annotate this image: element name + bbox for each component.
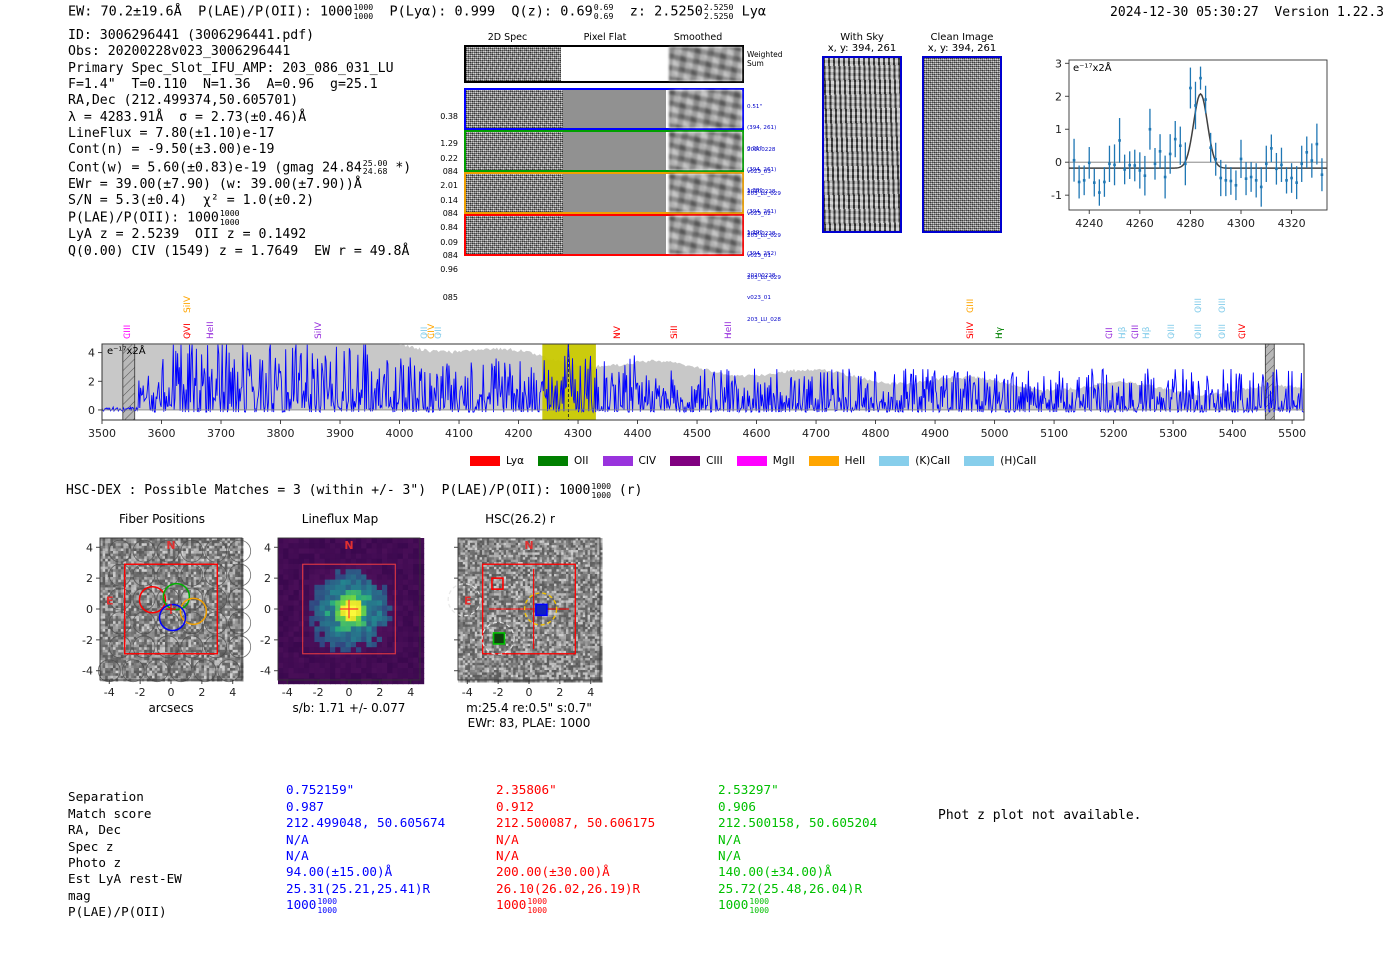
lineflux-map-svg: N-4-4-2-2002244s/b: 1.71 +/- 0.077 xyxy=(248,530,443,715)
svg-text:-2: -2 xyxy=(313,686,324,699)
m3-specz: N/A xyxy=(718,832,741,847)
with-sky-subtitle: x, y: 394, 261 xyxy=(822,43,902,54)
match-label-score: Match score xyxy=(68,806,151,821)
detail-line-7: Cont(n) = -9.50(±3.00)e-19 xyxy=(68,142,274,157)
detail-line-2: Primary Spec_Slot_IFU_AMP: 203_086_031_L… xyxy=(68,61,394,76)
detail-redshifts: LyA z = 2.5239 OII z = 0.1492 xyxy=(68,227,306,242)
line-label-civ-23: CIV xyxy=(1238,324,1248,339)
svg-text:4600: 4600 xyxy=(743,427,771,440)
detail-ewr: EWr = 39.00(±7.90) (w: 39.00(±7.90))Å xyxy=(68,177,362,192)
summary-z-fraction: 2.52502.5250 xyxy=(704,3,734,20)
svg-text:0: 0 xyxy=(88,404,95,417)
svg-text:4200: 4200 xyxy=(505,427,533,440)
svg-text:5000: 5000 xyxy=(981,427,1009,440)
line-fit-plot: -1012342404260428043004320e⁻¹⁷x2Å xyxy=(1035,50,1335,250)
emission-line-label-layer: ⌣CIII⌣OVI⌣SiIV⌣HeII⌣SiIV⌣OII⌣CIV⌣OII⌣NV⌣… xyxy=(60,272,1310,352)
legend-swatch-6 xyxy=(879,456,909,466)
line-label-oiii-18: OIII xyxy=(1167,324,1177,339)
svg-text:-2: -2 xyxy=(135,686,146,699)
m2-specz: N/A xyxy=(496,832,519,847)
lineflux-map-title: Lineflux Map xyxy=(240,512,440,526)
match-column-1: 0.752159" 0.987 212.499048, 50.605674 N/… xyxy=(286,766,445,914)
spec2d-row-fiber-2 xyxy=(464,130,744,172)
m1-radec: 212.499048, 50.605674 xyxy=(286,815,445,830)
line-label-ciii-16: CIII xyxy=(1131,325,1141,339)
detection-detail-block: ID: 3006296441 (3006296441.pdf) Obs: 202… xyxy=(68,28,411,260)
detail-line-0: ID: 3006296441 (3006296441.pdf) xyxy=(68,28,314,43)
line-label-siii-9: SiII xyxy=(670,325,680,339)
svg-text:-4: -4 xyxy=(260,665,271,678)
line-label-ovi-1: OVI xyxy=(183,323,193,339)
line-label-heii-10: HeII xyxy=(724,321,734,339)
m1-mag: 25.31(25.21,25.41)R xyxy=(286,881,430,896)
spec2d-col-title-smoothed: Smoothed xyxy=(653,32,743,43)
legend-label-2: CIV xyxy=(639,455,657,467)
line-label-hβ-15: Hβ xyxy=(1118,326,1128,339)
line-label-siiv-2: SiIV xyxy=(183,296,193,313)
line-label-ciii-0: CIII xyxy=(123,325,133,339)
legend-swatch-0 xyxy=(470,456,500,466)
detail-line-6: LineFlux = 7.80(±1.10)e-17 xyxy=(68,126,274,141)
svg-text:4: 4 xyxy=(229,686,236,699)
gmag-fraction: 25.0024.68 xyxy=(363,159,388,176)
legend-label-5: HeII xyxy=(845,455,866,467)
hsc-r-title: HSC(26.2) r xyxy=(420,512,620,526)
summary-header: EW: 70.2±19.6Å P(LAE)/P(OII): 1000100010… xyxy=(68,3,766,20)
svg-text:0: 0 xyxy=(86,603,93,616)
svg-text:4400: 4400 xyxy=(624,427,652,440)
summary-ew: EW: 70.2±19.6Å xyxy=(68,4,182,20)
spec2d-row-weighted-sum xyxy=(464,45,744,83)
hscdex-plae-fraction: 10001000 xyxy=(591,482,611,499)
svg-text:e⁻¹⁷x2Å: e⁻¹⁷x2Å xyxy=(1073,61,1112,74)
svg-text:0: 0 xyxy=(1055,156,1062,169)
m2-est-ew: 200.00(±30.00)Å xyxy=(496,864,610,879)
m3-plae-fraction: 10001000 xyxy=(749,897,769,914)
svg-text:3800: 3800 xyxy=(267,427,295,440)
match-label-est-lya-ew: Est LyA rest-EW xyxy=(68,871,182,886)
line-label-heii-3: HeII xyxy=(206,321,216,339)
svg-text:4700: 4700 xyxy=(802,427,830,440)
svg-text:4100: 4100 xyxy=(445,427,473,440)
svg-text:4300: 4300 xyxy=(1227,217,1255,230)
svg-text:4300: 4300 xyxy=(564,427,592,440)
full-spectrum-plot: 0243500360037003800390040004100420043004… xyxy=(60,272,1310,452)
svg-text:4000: 4000 xyxy=(386,427,414,440)
match-column-2: 2.35806" 0.912 212.500087, 50.606175 N/A… xyxy=(496,766,655,914)
with-sky-image xyxy=(822,56,902,233)
m2-radec: 212.500087, 50.606175 xyxy=(496,815,655,830)
legend-label-3: CIII xyxy=(706,455,723,467)
spec2d-panel-group: 2D Spec Pixel Flat Smoothed Weighted Sum… xyxy=(455,32,755,257)
timestamp: 2024-12-30 05:30:27 xyxy=(1110,5,1259,20)
detail-cont-w-tail: *) xyxy=(387,160,411,175)
svg-text:arcsecs: arcsecs xyxy=(148,701,193,715)
match-label-specz: Spec z xyxy=(68,839,114,854)
detail-snr: S/N = 5.3(±0.4) χ² = 1.0(±0.2) xyxy=(68,193,314,208)
legend-item-lyα: Lyα xyxy=(470,455,524,467)
line-label-nv-8: NV xyxy=(613,326,623,339)
svg-text:4280: 4280 xyxy=(1176,217,1204,230)
legend-label-0: Lyα xyxy=(506,455,524,467)
legend-swatch-7 xyxy=(964,456,994,466)
line-label-oiii-21: OIII xyxy=(1218,324,1228,339)
fiber-positions-svg: NE-4-4-2-2002244arcsecs xyxy=(70,530,265,715)
svg-text:4900: 4900 xyxy=(921,427,949,440)
svg-text:5400: 5400 xyxy=(1219,427,1247,440)
svg-text:3: 3 xyxy=(1055,57,1062,70)
spec2d-col-title-2dspec: 2D Spec xyxy=(455,32,560,43)
legend-swatch-2 xyxy=(603,456,633,466)
match-table-labels: Separation Match score RA, Dec Spec z Ph… xyxy=(68,773,182,921)
line-label-oiii-22: OIII xyxy=(1218,298,1228,313)
svg-text:2: 2 xyxy=(1055,90,1062,103)
summary-plae-label: P(LAE)/P(OII): 1000 xyxy=(198,4,352,20)
svg-text:-2: -2 xyxy=(260,634,271,647)
m3-score: 0.906 xyxy=(718,799,756,814)
summary-plya: P(Lyα): 0.999 xyxy=(389,4,495,20)
line-label-oiii-19: OIII xyxy=(1194,324,1204,339)
m3-radec: 212.500158, 50.605204 xyxy=(718,815,877,830)
m1-plae-fraction: 10001000 xyxy=(317,897,337,914)
weighted-sum-label: Weighted Sum xyxy=(747,50,783,68)
hscdex-header-tail: (r) xyxy=(611,483,642,498)
svg-text:4800: 4800 xyxy=(862,427,890,440)
detail-qciv: Q(0.00) CIV (1549) z = 1.7649 EW r = 49.… xyxy=(68,244,409,259)
hscdex-header: HSC-DEX : Possible Matches = 3 (within +… xyxy=(66,482,642,499)
lineflux-map-panel: N-4-4-2-2002244s/b: 1.71 +/- 0.077 xyxy=(248,530,443,715)
svg-text:s/b: 1.71 +/- 0.077: s/b: 1.71 +/- 0.077 xyxy=(293,701,406,715)
svg-text:3700: 3700 xyxy=(207,427,235,440)
spec2d-row-fiber-3 xyxy=(464,172,744,214)
m1-plae: 1000 xyxy=(286,897,316,912)
svg-text:2: 2 xyxy=(198,686,205,699)
legend-item-ciii: CIII xyxy=(670,455,723,467)
m2-mag: 26.10(26.02,26.19)R xyxy=(496,881,640,896)
m1-score: 0.987 xyxy=(286,799,324,814)
clean-image-cutout-panel: Clean Image x, y: 394, 261 xyxy=(922,32,1002,247)
svg-text:5500: 5500 xyxy=(1278,427,1306,440)
hsc-r-panel: NE-4-2024m:25.4 re:0.5" s:0.7"EWr: 83, P… xyxy=(428,530,623,730)
match-column-3: 2.53297" 0.906 212.500158, 50.605204 N/A… xyxy=(718,766,877,914)
svg-text:-4: -4 xyxy=(82,665,93,678)
line-label-hγ-13: Hγ xyxy=(995,327,1005,339)
detail-line-5: λ = 4283.91Å σ = 2.73(±0.46)Å xyxy=(68,110,306,125)
fiber-positions-panel: NE-4-4-2-2002244arcsecs xyxy=(70,530,265,715)
summary-qz-fraction: 0.690.69 xyxy=(594,3,614,20)
legend-swatch-3 xyxy=(670,456,700,466)
svg-text:3600: 3600 xyxy=(148,427,176,440)
line-label-cii-14: CII xyxy=(1105,327,1115,339)
spec2d-row-fiber-4 xyxy=(464,214,744,256)
match-label-separation: Separation xyxy=(68,789,144,804)
svg-text:0: 0 xyxy=(346,686,353,699)
detail-cont-w: Cont(w) = 5.60(±0.83)e-19 (gmag 24.84 xyxy=(68,160,362,175)
detail-line-3: F=1.4" T=0.110 N=1.36 A=0.96 g=25.1 xyxy=(68,77,378,92)
svg-text:4320: 4320 xyxy=(1278,217,1306,230)
svg-text:4260: 4260 xyxy=(1126,217,1154,230)
hscdex-header-text: HSC-DEX : Possible Matches = 3 (within +… xyxy=(66,483,590,498)
legend-label-4: MgII xyxy=(773,455,795,467)
svg-text:5200: 5200 xyxy=(1100,427,1128,440)
svg-text:2: 2 xyxy=(86,572,93,585)
legend-label-1: OII xyxy=(574,455,588,467)
legend-swatch-1 xyxy=(538,456,568,466)
m2-photoz: N/A xyxy=(496,848,519,863)
svg-text:4: 4 xyxy=(86,541,93,554)
clean-image-image xyxy=(922,56,1002,233)
legend-item-oii: OII xyxy=(538,455,588,467)
m2-plae-fraction: 10001000 xyxy=(527,897,547,914)
m1-separation: 0.752159" xyxy=(286,782,354,797)
m3-mag: 25.72(25.48,26.04)R xyxy=(718,881,862,896)
svg-text:0: 0 xyxy=(168,686,175,699)
fiber-positions-title: Fiber Positions xyxy=(62,512,262,526)
summary-plae-fraction: 10001000 xyxy=(354,3,374,20)
svg-text:5100: 5100 xyxy=(1040,427,1068,440)
svg-text:3900: 3900 xyxy=(326,427,354,440)
svg-text:4240: 4240 xyxy=(1075,217,1103,230)
svg-text:1: 1 xyxy=(1055,123,1062,136)
photz-note: Phot z plot not available. xyxy=(938,808,1142,823)
line-label-siiv-4: SiIV xyxy=(314,322,324,339)
with-sky-title: With Sky xyxy=(822,32,902,43)
summary-qz: Q(z): 0.69 xyxy=(511,4,592,20)
match-label-radec: RA, Dec xyxy=(68,822,121,837)
svg-text:2: 2 xyxy=(88,375,95,388)
legend-item-kcaii: (K)CaII xyxy=(879,455,950,467)
clean-image-subtitle: x, y: 394, 261 xyxy=(922,43,1002,54)
detail-plae-fraction: 10001000 xyxy=(220,209,240,226)
clean-image-title: Clean Image xyxy=(922,32,1002,43)
with-sky-cutout-panel: With Sky x, y: 394, 261 xyxy=(822,32,902,247)
legend-item-heii: HeII xyxy=(809,455,866,467)
hsc-r-svg: NE-4-2024m:25.4 re:0.5" s:0.7"EWr: 83, P… xyxy=(428,530,623,730)
legend-item-mgii: MgII xyxy=(737,455,795,467)
legend-item-hcaii: (H)CaII xyxy=(964,455,1036,467)
summary-z: z: 2.5250 xyxy=(630,4,703,20)
svg-text:N: N xyxy=(344,539,353,552)
line-label-ciii-11: CIII xyxy=(966,299,976,313)
match-label-plae: P(LAE)/P(OII) xyxy=(68,904,167,919)
m2-score: 0.912 xyxy=(496,799,534,814)
svg-text:5300: 5300 xyxy=(1159,427,1187,440)
legend-swatch-5 xyxy=(809,456,839,466)
svg-text:0: 0 xyxy=(264,603,271,616)
timestamp-version: 2024-12-30 05:30:27 Version 1.22.3 xyxy=(1110,5,1384,20)
m1-specz: N/A xyxy=(286,832,309,847)
legend-swatch-4 xyxy=(737,456,767,466)
svg-text:-4: -4 xyxy=(282,686,293,699)
legend-label-7: (H)CaII xyxy=(1000,455,1036,467)
spec2d-col-title-pixelflat: Pixel Flat xyxy=(560,32,650,43)
detail-plae-label: P(LAE)/P(OII): 1000 xyxy=(68,211,219,226)
m2-plae: 1000 xyxy=(496,897,526,912)
svg-text:N: N xyxy=(166,539,175,552)
summary-line-id: Lyα xyxy=(742,4,766,20)
line-label-siiv-12: SiIV xyxy=(966,322,976,339)
spec2d-row-fiber-1 xyxy=(464,88,744,130)
legend-item-civ: CIV xyxy=(603,455,657,467)
m3-separation: 2.53297" xyxy=(718,782,779,797)
m2-separation: 2.35806" xyxy=(496,782,557,797)
svg-text:3500: 3500 xyxy=(88,427,116,440)
svg-text:4: 4 xyxy=(407,686,414,699)
version: Version 1.22.3 xyxy=(1274,5,1384,20)
m3-est-ew: 140.00(±34.00)Å xyxy=(718,864,832,879)
m1-photoz: N/A xyxy=(286,848,309,863)
svg-text:4: 4 xyxy=(264,541,271,554)
svg-text:4500: 4500 xyxy=(683,427,711,440)
svg-text:-1: -1 xyxy=(1051,189,1062,202)
svg-text:2: 2 xyxy=(264,572,271,585)
legend-label-6: (K)CaII xyxy=(915,455,950,467)
line-label-hβ-17: Hβ xyxy=(1142,326,1152,339)
svg-text:2: 2 xyxy=(376,686,383,699)
match-label-photoz: Photo z xyxy=(68,855,121,870)
svg-text:-2: -2 xyxy=(82,634,93,647)
svg-text:E: E xyxy=(106,594,114,607)
m1-est-ew: 94.00(±15.00)Å xyxy=(286,864,392,879)
line-label-oii-7: OII xyxy=(434,327,444,339)
detail-line-4: RA,Dec (212.499374,50.605701) xyxy=(68,93,298,108)
match-label-mag: mag xyxy=(68,888,91,903)
line-fit-svg: -1012342404260428043004320e⁻¹⁷x2Å xyxy=(1035,50,1335,250)
line-label-oiii-20: OIII xyxy=(1194,298,1204,313)
m3-plae: 1000 xyxy=(718,897,748,912)
m3-photoz: N/A xyxy=(718,848,741,863)
spectrum-legend: LyαOIICIVCIIIMgIIHeII(K)CaII(H)CaII xyxy=(470,450,1050,469)
detail-line-1: Obs: 20200228v023_3006296441 xyxy=(68,44,290,59)
svg-text:-4: -4 xyxy=(104,686,115,699)
